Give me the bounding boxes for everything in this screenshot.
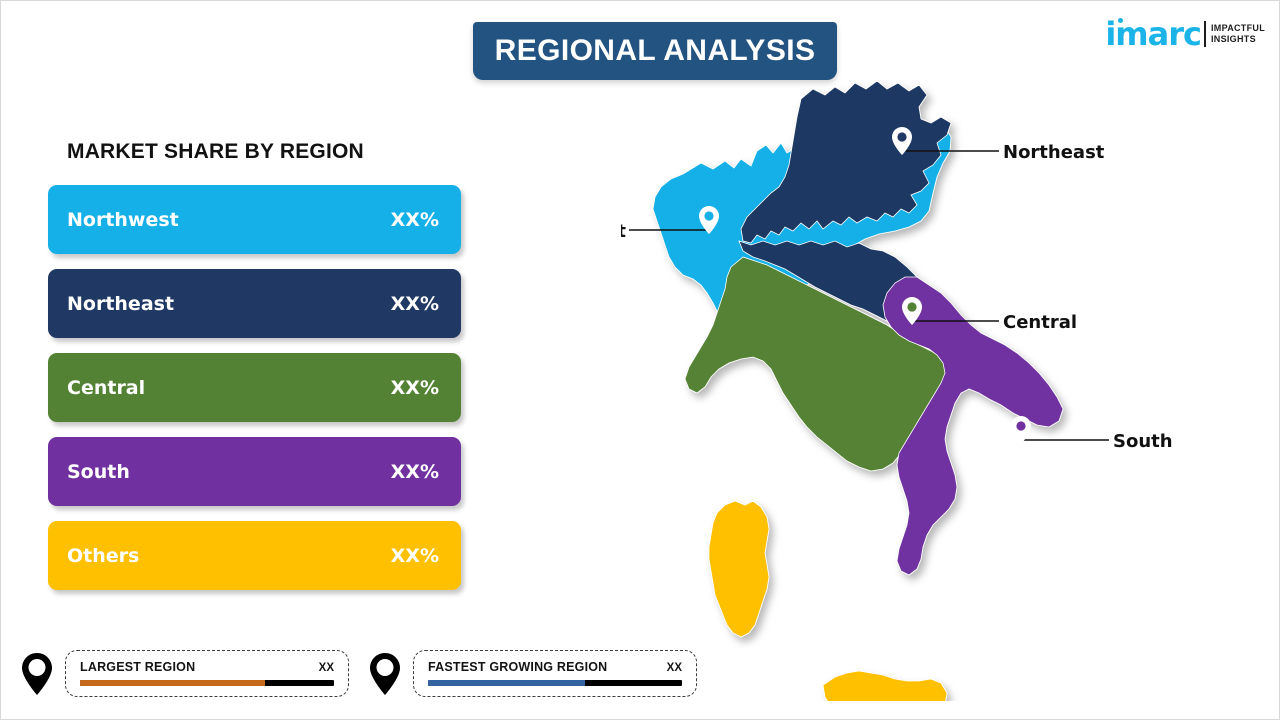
largest-region-progress-track [80, 680, 334, 686]
regional-analysis-slide: REGIONAL ANALYSIS imarc IMPACTFUL INSIGH… [0, 0, 1280, 720]
map-label-south: South [1113, 431, 1173, 452]
largest-region-stat: LARGEST REGION XX [19, 650, 349, 697]
map-island-sicily[interactable] [823, 671, 947, 701]
map-label-northwest: Northwest [621, 221, 626, 242]
region-label: Central [67, 377, 145, 399]
map-label-northeast: Northeast [1003, 142, 1105, 163]
largest-region-label: LARGEST REGION [80, 660, 195, 674]
region-bar-northeast[interactable]: Northeast XX% [48, 269, 461, 338]
region-value: XX% [391, 545, 439, 567]
largest-region-progress-fill [80, 680, 265, 686]
market-share-heading: MARKET SHARE BY REGION [67, 140, 364, 164]
largest-region-box: LARGEST REGION XX [65, 650, 349, 697]
fastest-region-label: FASTEST GROWING REGION [428, 660, 607, 674]
region-label: Northeast [67, 293, 174, 315]
map-pin-icon [367, 651, 403, 697]
logo-divider [1204, 21, 1206, 47]
region-value: XX% [391, 461, 439, 483]
fastest-region-progress-fill [428, 680, 585, 686]
largest-region-value: XX [319, 662, 334, 674]
region-label: Others [67, 545, 139, 567]
region-bar-others[interactable]: Others XX% [48, 521, 461, 590]
region-bar-northwest[interactable]: Northwest XX% [48, 185, 461, 254]
region-label: South [67, 461, 130, 483]
logo-tagline-line1: IMPACTFUL [1211, 23, 1265, 34]
region-bar-south[interactable]: South XX% [48, 437, 461, 506]
region-bar-central[interactable]: Central XX% [48, 353, 461, 422]
region-share-list: Northwest XX% Northeast XX% Central XX% … [48, 185, 461, 605]
region-value: XX% [391, 293, 439, 315]
imarc-logo: imarc IMPACTFUL INSIGHTS [1105, 17, 1265, 51]
italy-region-map: Northwest Northeast Central South [621, 71, 1221, 701]
region-label: Northwest [67, 209, 179, 231]
page-title: REGIONAL ANALYSIS [495, 34, 816, 68]
logo-tagline-line2: INSIGHTS [1211, 34, 1265, 45]
region-value: XX% [391, 377, 439, 399]
map-pin-icon [19, 651, 55, 697]
map-island-sardinia[interactable] [709, 501, 769, 637]
map-label-central: Central [1003, 312, 1077, 333]
region-value: XX% [391, 209, 439, 231]
logo-tagline: IMPACTFUL INSIGHTS [1211, 23, 1265, 45]
